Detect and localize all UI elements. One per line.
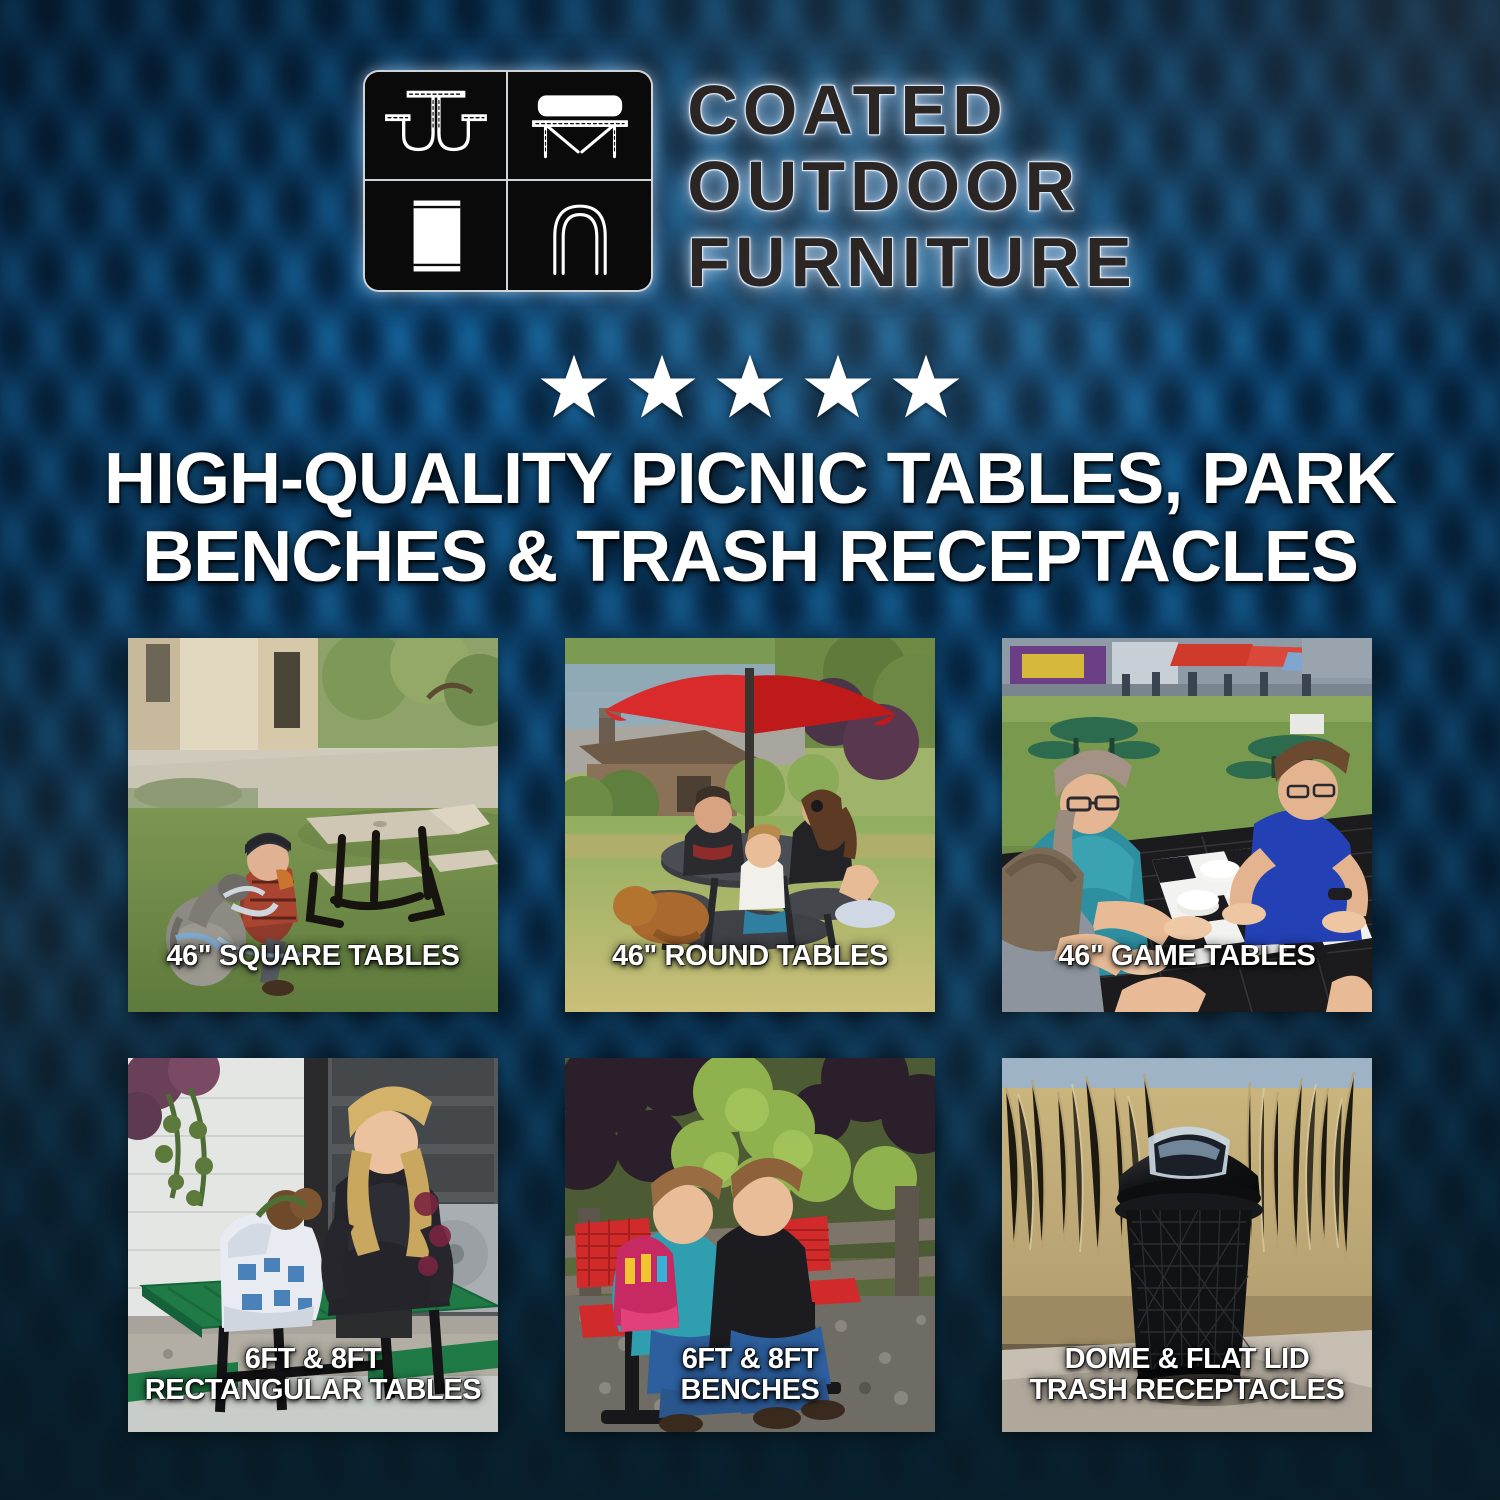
picnic-table-icon bbox=[365, 72, 508, 181]
star-icon bbox=[802, 352, 874, 422]
product-caption: 46" SQUARE TABLES bbox=[128, 941, 498, 972]
caption-line-2: TRASH RECEPTACLES bbox=[1008, 1375, 1366, 1406]
brand-logo-mark bbox=[363, 70, 653, 292]
caption-line-1: 6FT & 8FT bbox=[571, 1344, 929, 1375]
caption-line-1: 46" SQUARE TABLES bbox=[134, 941, 492, 972]
caption-line-1: DOME & FLAT LID bbox=[1008, 1344, 1366, 1375]
page-headline: HIGH-QUALITY PICNIC TABLES, PARK BENCHES… bbox=[0, 440, 1500, 596]
product-caption: 46" ROUND TABLES bbox=[565, 941, 935, 972]
headline-line-1: HIGH-QUALITY PICNIC TABLES, PARK bbox=[60, 440, 1440, 518]
product-tile[interactable]: 46" ROUND TABLES bbox=[565, 638, 935, 1012]
park-bench-icon bbox=[508, 72, 651, 181]
caption-line-2: RECTANGULAR TABLES bbox=[134, 1375, 492, 1406]
wordmark-line-1: COATED bbox=[687, 72, 1136, 148]
product-caption: DOME & FLAT LID TRASH RECEPTACLES bbox=[1002, 1344, 1372, 1406]
product-tile[interactable]: 46" SQUARE TABLES bbox=[128, 638, 498, 1012]
star-rating bbox=[0, 352, 1500, 422]
product-tile[interactable]: 6FT & 8FT RECTANGULAR TABLES bbox=[128, 1058, 498, 1432]
caption-line-1: 46" ROUND TABLES bbox=[571, 941, 929, 972]
caption-line-2: BENCHES bbox=[571, 1375, 929, 1406]
headline-line-2: BENCHES & TRASH RECEPTACLES bbox=[60, 518, 1440, 596]
product-caption: 6FT & 8FT BENCHES bbox=[565, 1344, 935, 1406]
caption-line-1: 6FT & 8FT bbox=[134, 1344, 492, 1375]
product-tile[interactable]: 46" GAME TABLES bbox=[1002, 638, 1372, 1012]
product-tile[interactable]: 6FT & 8FT BENCHES bbox=[565, 1058, 935, 1432]
trash-receptacle-icon bbox=[365, 181, 508, 290]
product-grid: 46" SQUARE TABLES bbox=[128, 638, 1372, 1432]
brand-wordmark: COATED OUTDOOR FURNITURE bbox=[687, 70, 1136, 300]
wordmark-line-3: FURNITURE bbox=[687, 224, 1136, 300]
product-caption: 46" GAME TABLES bbox=[1002, 941, 1372, 972]
product-tile[interactable]: DOME & FLAT LID TRASH RECEPTACLES bbox=[1002, 1058, 1372, 1432]
brand-header: COATED OUTDOOR FURNITURE bbox=[0, 70, 1500, 300]
star-icon bbox=[626, 352, 698, 422]
star-icon bbox=[890, 352, 962, 422]
wordmark-line-2: OUTDOOR bbox=[687, 148, 1136, 224]
product-caption: 6FT & 8FT RECTANGULAR TABLES bbox=[128, 1344, 498, 1406]
star-icon bbox=[714, 352, 786, 422]
caption-line-1: 46" GAME TABLES bbox=[1008, 941, 1366, 972]
star-icon bbox=[538, 352, 610, 422]
marketing-poster: COATED OUTDOOR FURNITURE HIGH-QUALITY PI… bbox=[0, 0, 1500, 1500]
bike-rack-arch-icon bbox=[508, 181, 651, 290]
